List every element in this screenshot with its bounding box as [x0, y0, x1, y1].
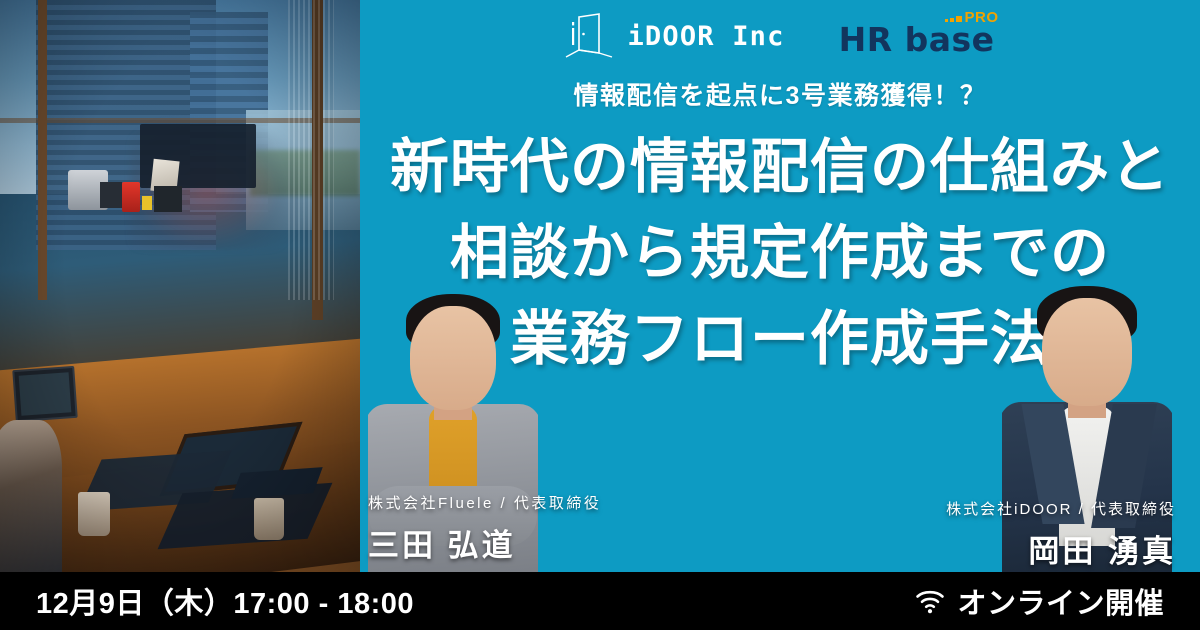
- speaker-left-role: 株式会社Fluele / 代表取締役: [368, 492, 601, 513]
- door-icon: [565, 13, 613, 59]
- pro-badge-label: PRO: [965, 10, 999, 25]
- hrbase-logo-text: HR base: [839, 23, 995, 56]
- idoor-logo: iDOOR Inc: [565, 13, 784, 59]
- event-format-label: オンライン開催: [957, 580, 1164, 622]
- footer-bar: 12月9日（木）17:00 - 18:00 オンライン開催: [0, 572, 1200, 630]
- speaker-caption-left: 株式会社Fluele / 代表取締役 三田 弘道: [368, 492, 601, 565]
- logo-row: iDOOR Inc PRO HR base: [360, 10, 1200, 62]
- speaker-caption-right: 株式会社iDOOR / 代表取締役 岡田 湧真: [946, 498, 1176, 571]
- event-format: オンライン開催: [915, 580, 1164, 622]
- speaker-right-face: [1042, 298, 1132, 406]
- three-squares-icon: [945, 16, 962, 25]
- event-datetime: 12月9日（木）17:00 - 18:00: [36, 580, 414, 622]
- hero-photo: [0, 0, 360, 572]
- webinar-banner: iDOOR Inc PRO HR base 情報配信を起点に3号業務獲得！？ 新…: [0, 0, 1200, 630]
- photo-vignette: [0, 0, 360, 572]
- title-line-1: 新時代の情報配信の仕組みと: [360, 124, 1200, 210]
- wifi-icon: [915, 588, 945, 614]
- speaker-left-name: 三田 弘道: [368, 520, 601, 565]
- pro-badge: PRO: [945, 10, 999, 25]
- speaker-right-name: 岡田 湧真: [946, 526, 1176, 571]
- subtitle: 情報配信を起点に3号業務獲得！？: [360, 76, 1200, 112]
- speaker-left-face: [410, 306, 496, 410]
- speaker-right-role: 株式会社iDOOR / 代表取締役: [946, 498, 1176, 519]
- hrbase-logo: PRO HR base: [839, 16, 995, 56]
- idoor-logo-text: iDOOR Inc: [627, 21, 784, 52]
